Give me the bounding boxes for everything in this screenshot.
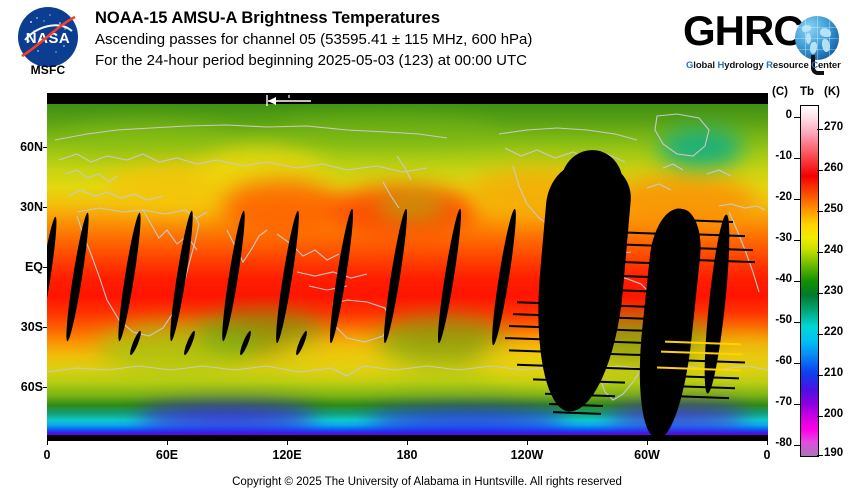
copyright-notice: Copyright © 2025 The University of Alaba… — [0, 476, 854, 488]
page-subtitle-channel: Ascending passes for channel 05 (53595.4… — [95, 29, 665, 50]
colorbar-kelvin-230: 230 — [824, 285, 854, 297]
colorbar-celsius-m20: -20 — [756, 191, 792, 203]
ghrc-wordmark: GHRC — [683, 8, 803, 54]
page-subtitle-period: For the 24-hour period beginning 2025-05… — [95, 50, 665, 71]
lon-label-60e: 60E — [137, 448, 197, 462]
longitude-axis: 0 60E 120E 180 120W 60W 0 — [47, 441, 768, 471]
colorbar-celsius-m10: -10 — [756, 150, 792, 162]
colorbar-kelvin-240: 240 — [824, 244, 854, 256]
colorbar-celsius-m70: -70 — [756, 396, 792, 408]
lon-label-120w: 120W — [497, 448, 557, 462]
lat-label-60s: 60S — [5, 380, 43, 394]
colorbar-kelvin-190: 190 — [824, 447, 854, 459]
page-title: NOAA-15 AMSU-A Brightness Temperatures — [95, 8, 665, 29]
globe-icon — [795, 16, 839, 60]
latitude-axis: 60N 30N EQ 30S 60S — [0, 93, 43, 441]
colorbar-kelvin-210: 210 — [824, 367, 854, 379]
colorbar-kelvin-200: 200 — [824, 408, 854, 420]
lon-label-60w: 60W — [617, 448, 677, 462]
nasa-meatball-icon: NASA — [17, 6, 79, 68]
colorbar-kelvin-250: 250 — [824, 203, 854, 215]
svg-text:NASA: NASA — [26, 30, 71, 47]
ghrc-tagline: Global Hydrology Resource Center — [686, 60, 841, 71]
lon-label-0a: 0 — [17, 448, 77, 462]
ghrc-logo: GHRC Global Hydrology Resource Center — [683, 8, 843, 80]
colorbar-kelvin-220: 220 — [824, 326, 854, 338]
colorbar-celsius-m60: -60 — [756, 355, 792, 367]
colorbar-header: (C) Tb (K) — [772, 86, 854, 102]
colorbar-unit-kelvin: (K) — [824, 86, 840, 98]
left-arrow-marker-icon — [265, 94, 315, 106]
lat-label-30n: 30N — [5, 200, 43, 214]
lat-label-30s: 30S — [5, 320, 43, 334]
colorbar-unit-celsius: (C) — [772, 86, 788, 98]
brightness-temperature-map[interactable] — [47, 93, 768, 441]
lon-label-120e: 120E — [257, 448, 317, 462]
colorbar-celsius-m40: -40 — [756, 273, 792, 285]
nasa-center-label: MSFC — [17, 63, 79, 77]
colorbar-celsius-m30: -30 — [756, 232, 792, 244]
colorbar-celsius-m50: -50 — [756, 314, 792, 326]
lat-label-60n: 60N — [5, 140, 43, 154]
lon-label-0b: 0 — [737, 448, 797, 462]
colorbar-celsius-m80: -80 — [756, 437, 792, 449]
colorbar-kelvin-270: 270 — [824, 121, 854, 133]
colorbar-kelvin-260: 260 — [824, 162, 854, 174]
colorbar-variable: Tb — [800, 86, 814, 98]
lat-label-eq: EQ — [5, 260, 43, 274]
title-block: NOAA-15 AMSU-A Brightness Temperatures A… — [95, 8, 665, 71]
page-header: NASA MSFC NOAA-15 AMSU-A Brightness Temp… — [0, 0, 854, 90]
colorbar-celsius-0: 0 — [756, 109, 792, 121]
lon-label-180: 180 — [377, 448, 437, 462]
colorbar-gradient[interactable] — [800, 105, 819, 457]
map-data-field — [47, 104, 768, 435]
